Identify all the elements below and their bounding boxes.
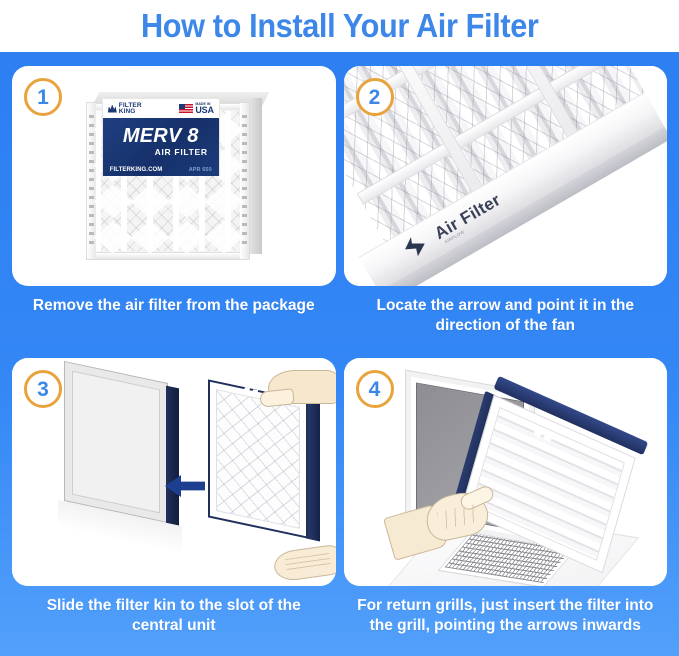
hand-inserting-filter [388,476,508,562]
step-caption-2: Locate the arrow and point it in the dir… [356,296,654,337]
crown-icon [108,105,117,113]
product-label: FILTER KING MADE IN USA [102,98,220,176]
chevron-mark [130,185,170,202]
step-badge-1: 1 [24,78,62,116]
page-title: How to Install Your Air Filter [141,9,539,43]
filter-side-depth [250,98,262,254]
chevron-mark [167,221,207,238]
step-2-image-card: 2 [344,66,668,286]
chevron-mark [93,201,133,218]
chevron-mark [204,201,244,218]
chevron-mark [93,185,133,202]
chevron-mark [93,221,133,238]
product-label-header: FILTER KING MADE IN USA [103,99,219,118]
step-caption-1: Remove the air filter from the package [25,296,323,316]
product-label-footer: FILTERKING.COM APR 650 [103,167,219,173]
merv-rating: MERV 8 [110,126,212,146]
step-number-4: 4 [369,379,381,400]
chevron-mark [204,237,244,254]
air-filter-product: FILTER KING MADE IN USA [86,92,262,260]
brand-line-2: KING [119,109,142,115]
step-3-image-card: 3 [12,358,336,586]
usa-flag-icon [179,104,193,113]
brand-website: FILTERKING.COM [110,167,163,173]
chevron-mark [204,221,244,238]
step-number-2: 2 [369,87,381,108]
apr-rating: APR 650 [189,167,212,173]
chevron-mark [130,237,170,254]
central-unit-body [64,361,168,523]
chevron-mark [93,237,133,254]
hand-upper-thumb [259,388,294,407]
step-badge-2: 2 [356,78,394,116]
steps-grid: 1 [0,52,679,656]
country-label: USA [195,106,213,114]
brand-lockup: FILTER KING [108,103,142,115]
hand-lower [270,544,336,586]
step-card-3: 3 [12,358,336,648]
title-band: How to Install Your Air Filter [0,0,679,52]
step-badge-3: 3 [24,370,62,408]
chevron-mark [167,237,207,254]
made-in-usa-text: MADE IN USA [195,103,213,114]
chevron-mark [130,221,170,238]
product-label-body: MERV 8 AIR FILTER FILTERKING.COM APR 650 [103,118,219,176]
step-card-1: 1 [12,66,336,356]
step-number-3: 3 [37,379,49,400]
product-type: AIR FILTER [110,147,212,157]
step-card-4: 4 [344,358,668,648]
chevron-mark [167,185,207,202]
chevron-mark [204,185,244,202]
step-card-2: 2 [344,66,668,356]
brand-text: FILTER KING [119,103,142,115]
step-number-1: 1 [37,87,49,108]
step-badge-4: 4 [356,370,394,408]
step-caption-4: For return grills, just insert the filte… [356,596,654,637]
step-1-image-card: 1 [12,66,336,286]
slide-direction-arrow-icon [165,475,205,497]
chevron-mark [130,201,170,218]
hand-upper [260,370,336,422]
central-unit-inset [72,371,160,514]
step-4-image-card: 4 [344,358,668,586]
central-unit-slot-edge [166,386,179,529]
step-caption-3: Slide the filter kin to the slot of the … [25,596,323,637]
arrow-glyph [165,475,205,497]
chevron-mark [167,201,207,218]
infographic-root: How to Install Your Air Filter 1 [0,0,679,656]
made-in-usa-lockup: MADE IN USA [179,103,213,114]
